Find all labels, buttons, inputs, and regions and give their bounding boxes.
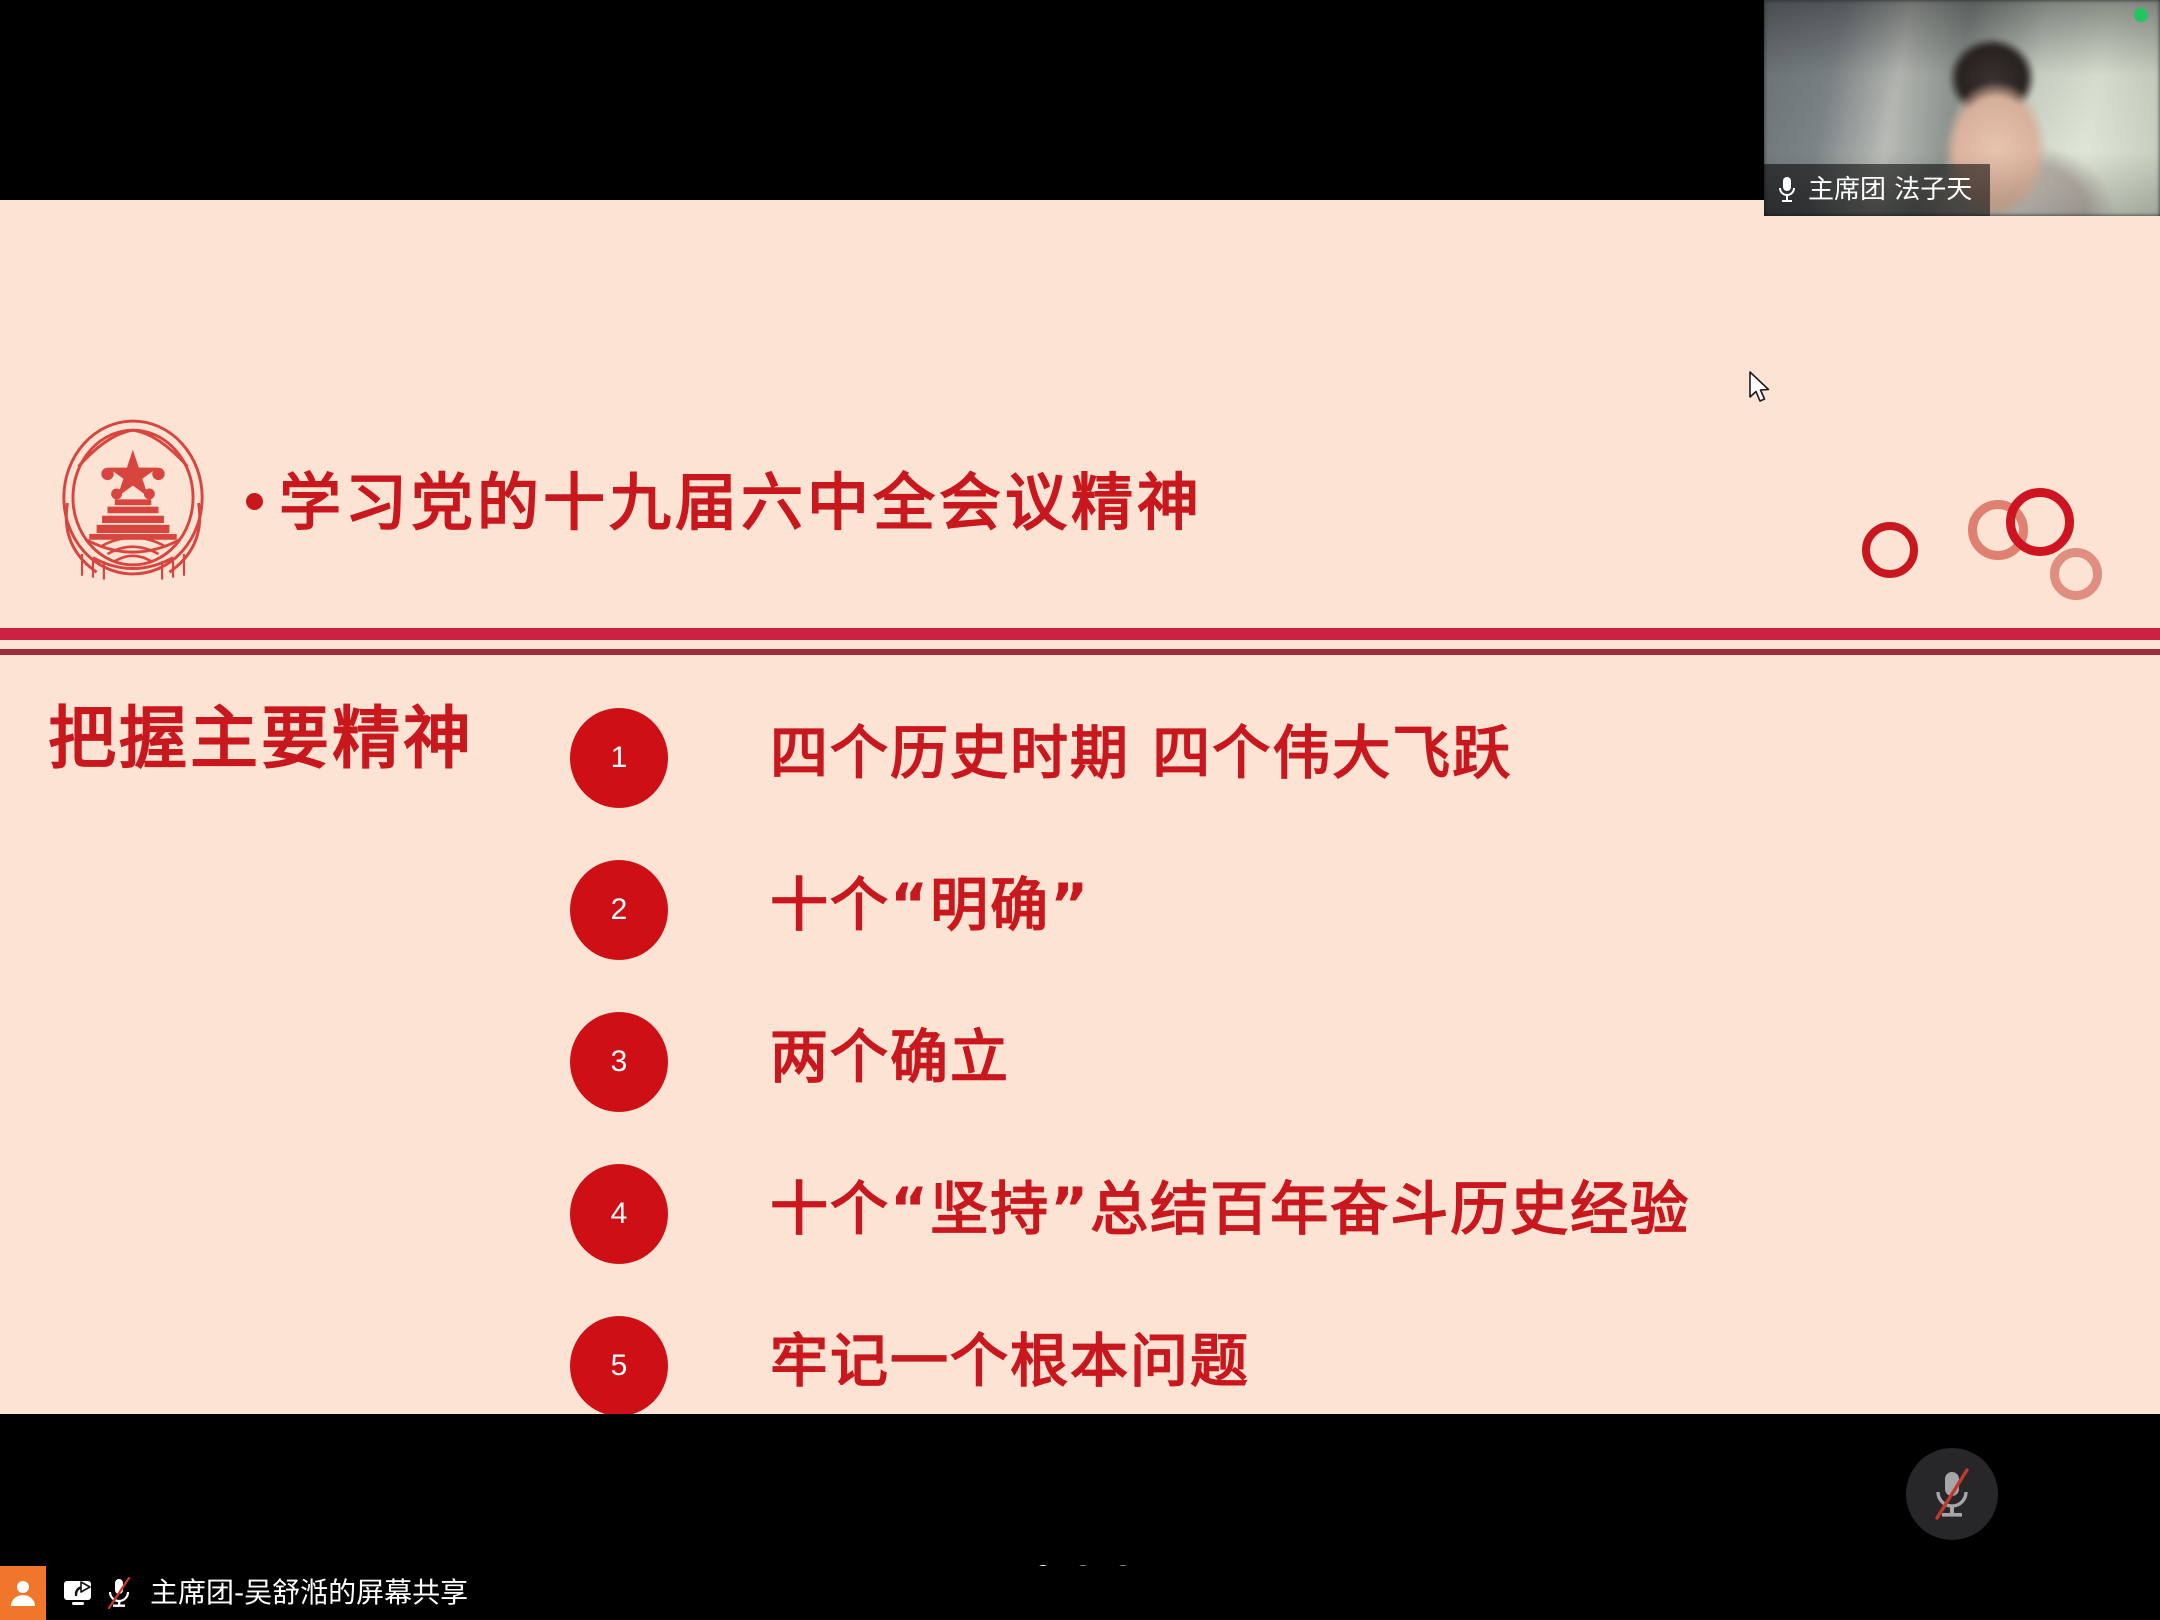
agenda-item-3: 3 两个确立 [570, 1004, 2130, 1156]
microphone-muted-icon [1929, 1468, 1975, 1520]
self-view-video-tile[interactable]: 主席团 法子天 [1764, 0, 2160, 216]
participant-avatar-icon [0, 1566, 46, 1620]
agenda-number: 4 [611, 1199, 628, 1229]
agenda-list: 1 四个历史时期 四个伟大飞跃 2 十个“明确” 3 两个确立 4 [570, 700, 2130, 1414]
agenda-number: 1 [611, 743, 628, 773]
title-bullet-icon [246, 493, 263, 510]
agenda-item-label: 十个“明确” [770, 876, 1090, 934]
active-speaker-dot-icon [2134, 8, 2148, 22]
section-heading: 把握主要精神 [48, 706, 474, 774]
slide-title-text: 学习党的十九届六中全会议精神 [279, 466, 1203, 539]
shared-slide: 学习党的十九届六中全会议精神 把握主要精神 1 四个历史时期 四个伟大飞跃 2 … [0, 200, 2160, 1414]
agenda-item-4: 4 十个“坚持”总结百年奋斗历史经验 [570, 1156, 2130, 1308]
self-view-name-bar: 主席团 法子天 [1764, 164, 1990, 216]
self-view-participant-name: 主席团 法子天 [1808, 177, 1972, 203]
national-emblem-icon [42, 412, 224, 594]
agenda-number: 5 [611, 1351, 628, 1381]
agenda-number-badge: 5 [570, 1316, 668, 1414]
header-divider-thick [0, 628, 2160, 640]
agenda-number: 2 [611, 895, 628, 925]
slide-header: 学习党的十九届六中全会议精神 [0, 200, 2160, 428]
screen-share-status-bar: 主席团-吴舒湉的屏幕共享 [0, 1566, 2160, 1620]
agenda-item-label: 十个“坚持”总结百年奋斗历史经验 [770, 1180, 1690, 1238]
microphone-icon [1776, 175, 1798, 205]
agenda-item-label: 牢记一个根本问题 [770, 1332, 1250, 1390]
agenda-item-1: 1 四个历史时期 四个伟大飞跃 [570, 700, 2130, 852]
screen-share-status-text: 主席团-吴舒湉的屏幕共享 [150, 1579, 468, 1607]
decorative-ring-4-icon [2050, 548, 2102, 600]
microphone-muted-icon [104, 1577, 134, 1609]
agenda-number: 3 [611, 1047, 628, 1077]
agenda-number-badge: 3 [570, 1012, 668, 1112]
agenda-number-badge: 1 [570, 708, 668, 808]
agenda-number-badge: 2 [570, 860, 668, 960]
agenda-number-badge: 4 [570, 1164, 668, 1264]
slide-title: 学习党的十九届六中全会议精神 [246, 472, 1203, 534]
mute-toggle-button[interactable] [1906, 1448, 1998, 1540]
screen-share-icon [62, 1578, 96, 1608]
agenda-item-label: 四个历史时期 四个伟大飞跃 [770, 724, 1512, 782]
agenda-item-5: 5 牢记一个根本问题 [570, 1308, 2130, 1414]
decorative-ring-3-icon [2006, 488, 2074, 556]
decorative-ring-1-icon [1862, 522, 1918, 578]
agenda-item-label: 两个确立 [770, 1028, 1010, 1086]
agenda-item-2: 2 十个“明确” [570, 852, 2130, 1004]
header-divider-thin [0, 649, 2160, 655]
meeting-stage: 学习党的十九届六中全会议精神 把握主要精神 1 四个历史时期 四个伟大飞跃 2 … [0, 0, 2160, 1620]
